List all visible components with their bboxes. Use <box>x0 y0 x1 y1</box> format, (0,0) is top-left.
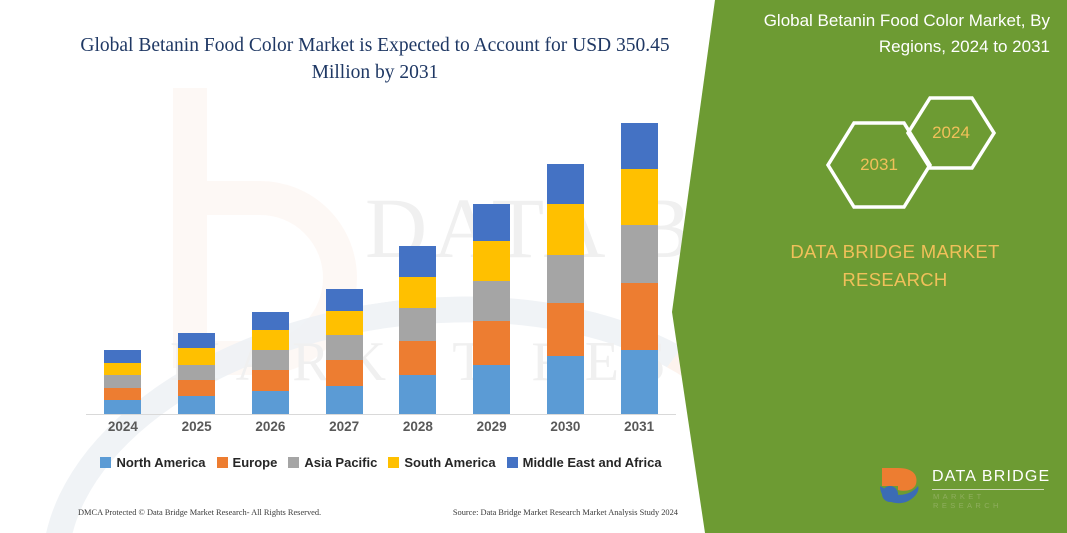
logo-divider <box>932 489 1044 490</box>
bar-column <box>160 333 233 414</box>
bar-segment <box>178 348 215 365</box>
bar-column <box>529 164 602 415</box>
bar-segment <box>473 321 510 365</box>
hexagon-group: 2024 2031 <box>815 95 1045 210</box>
logo-wordmark: DATA BRIDGE <box>932 468 1050 486</box>
stacked-bar[interactable] <box>473 204 510 414</box>
legend-swatch-icon <box>217 457 228 468</box>
stacked-bar[interactable] <box>252 312 289 414</box>
legend-label: Europe <box>233 455 278 470</box>
bar-segment <box>252 391 289 414</box>
footer: DMCA Protected © Data Bridge Market Rese… <box>78 508 678 517</box>
hexagon-2024-label: 2024 <box>932 123 970 143</box>
bar-segment <box>326 335 363 359</box>
bar-column <box>86 350 159 414</box>
x-axis-tick-2028: 2028 <box>381 419 454 439</box>
bar-segment <box>326 289 363 311</box>
bar-segment <box>252 350 289 370</box>
chart-plot-area <box>86 110 676 415</box>
stacked-bar[interactable] <box>399 246 436 414</box>
bar-column <box>308 289 381 414</box>
x-axis-tick-2027: 2027 <box>308 419 381 439</box>
page-title: Global Betanin Food Color Market is Expe… <box>60 32 690 86</box>
bar-segment <box>252 370 289 391</box>
x-axis-tick-2024: 2024 <box>86 419 159 439</box>
bar-segment <box>178 396 215 414</box>
legend-label: South America <box>404 455 495 470</box>
x-axis-tick-2025: 2025 <box>160 419 233 439</box>
bar-segment <box>621 169 658 226</box>
bar-column <box>455 204 528 414</box>
stacked-bar[interactable] <box>621 123 658 414</box>
data-bridge-logo: DATA BRIDGE MARKET RESEARCH <box>876 462 1051 510</box>
footer-copyright: DMCA Protected © Data Bridge Market Rese… <box>78 508 321 517</box>
bar-segment <box>547 356 584 414</box>
bar-segment <box>621 123 658 169</box>
bar-segment <box>473 365 510 414</box>
legend-item[interactable]: Europe <box>217 455 278 470</box>
legend-item[interactable]: Asia Pacific <box>288 455 377 470</box>
x-axis-tick-2026: 2026 <box>234 419 307 439</box>
stacked-bar[interactable] <box>104 350 141 414</box>
bar-segment <box>547 303 584 356</box>
x-axis-tick-2030: 2030 <box>529 419 602 439</box>
logo-tagline: MARKET RESEARCH <box>933 492 1051 510</box>
hexagon-2031: 2031 <box>825 120 933 210</box>
bar-column <box>234 312 307 414</box>
legend-swatch-icon <box>288 457 299 468</box>
stacked-bar[interactable] <box>178 333 215 414</box>
bar-segment <box>621 225 658 283</box>
legend-item[interactable]: South America <box>388 455 495 470</box>
bar-segment <box>473 241 510 281</box>
hexagon-2031-label: 2031 <box>860 155 898 175</box>
bar-segment <box>399 341 436 376</box>
bar-segment <box>326 386 363 414</box>
data-bridge-mark-icon <box>876 464 924 508</box>
x-axis-line <box>86 414 676 415</box>
bar-segment <box>178 380 215 396</box>
bar-segment <box>473 281 510 321</box>
bar-segment <box>547 255 584 303</box>
bar-segment <box>104 388 141 401</box>
bar-segment <box>399 308 436 340</box>
bar-group <box>86 110 676 414</box>
stacked-bar[interactable] <box>547 164 584 415</box>
legend-item[interactable]: North America <box>100 455 205 470</box>
legend-item[interactable]: Middle East and Africa <box>507 455 662 470</box>
bar-segment <box>399 246 436 276</box>
bar-segment <box>104 400 141 414</box>
bar-segment <box>399 375 436 414</box>
bar-segment <box>178 333 215 348</box>
bar-segment <box>547 164 584 205</box>
legend-label: North America <box>116 455 205 470</box>
bar-segment <box>621 283 658 350</box>
x-axis-tick-labels: 20242025202620272028202920302031 <box>86 419 676 439</box>
bar-segment <box>178 365 215 381</box>
bar-segment <box>252 312 289 330</box>
legend-swatch-icon <box>507 457 518 468</box>
footer-source: Source: Data Bridge Market Research Mark… <box>453 508 678 517</box>
legend-label: Middle East and Africa <box>523 455 662 470</box>
bar-segment <box>326 311 363 335</box>
bar-segment <box>104 375 141 388</box>
right-green-panel: Global Betanin Food Color Market, By Reg… <box>660 0 1067 533</box>
x-axis-tick-2031: 2031 <box>603 419 676 439</box>
bar-segment <box>104 350 141 363</box>
infographic-page: DATA BRIDGE MARKET RESEARCH Global Betan… <box>0 0 1067 533</box>
panel-title: Global Betanin Food Color Market, By Reg… <box>740 8 1050 60</box>
bar-segment <box>252 330 289 350</box>
bar-segment <box>547 204 584 254</box>
bar-segment <box>326 360 363 386</box>
chart-legend: North AmericaEuropeAsia PacificSouth Ame… <box>86 455 676 470</box>
legend-label: Asia Pacific <box>304 455 377 470</box>
bar-column <box>381 246 454 414</box>
bar-column <box>603 123 676 414</box>
legend-swatch-icon <box>388 457 399 468</box>
bar-segment <box>621 350 658 414</box>
bar-segment <box>399 277 436 308</box>
x-axis-tick-2029: 2029 <box>455 419 528 439</box>
brand-name: DATA BRIDGE MARKET RESEARCH <box>760 238 1030 294</box>
stacked-bar[interactable] <box>326 289 363 414</box>
legend-swatch-icon <box>100 457 111 468</box>
bar-segment <box>473 204 510 241</box>
bar-segment <box>104 363 141 376</box>
